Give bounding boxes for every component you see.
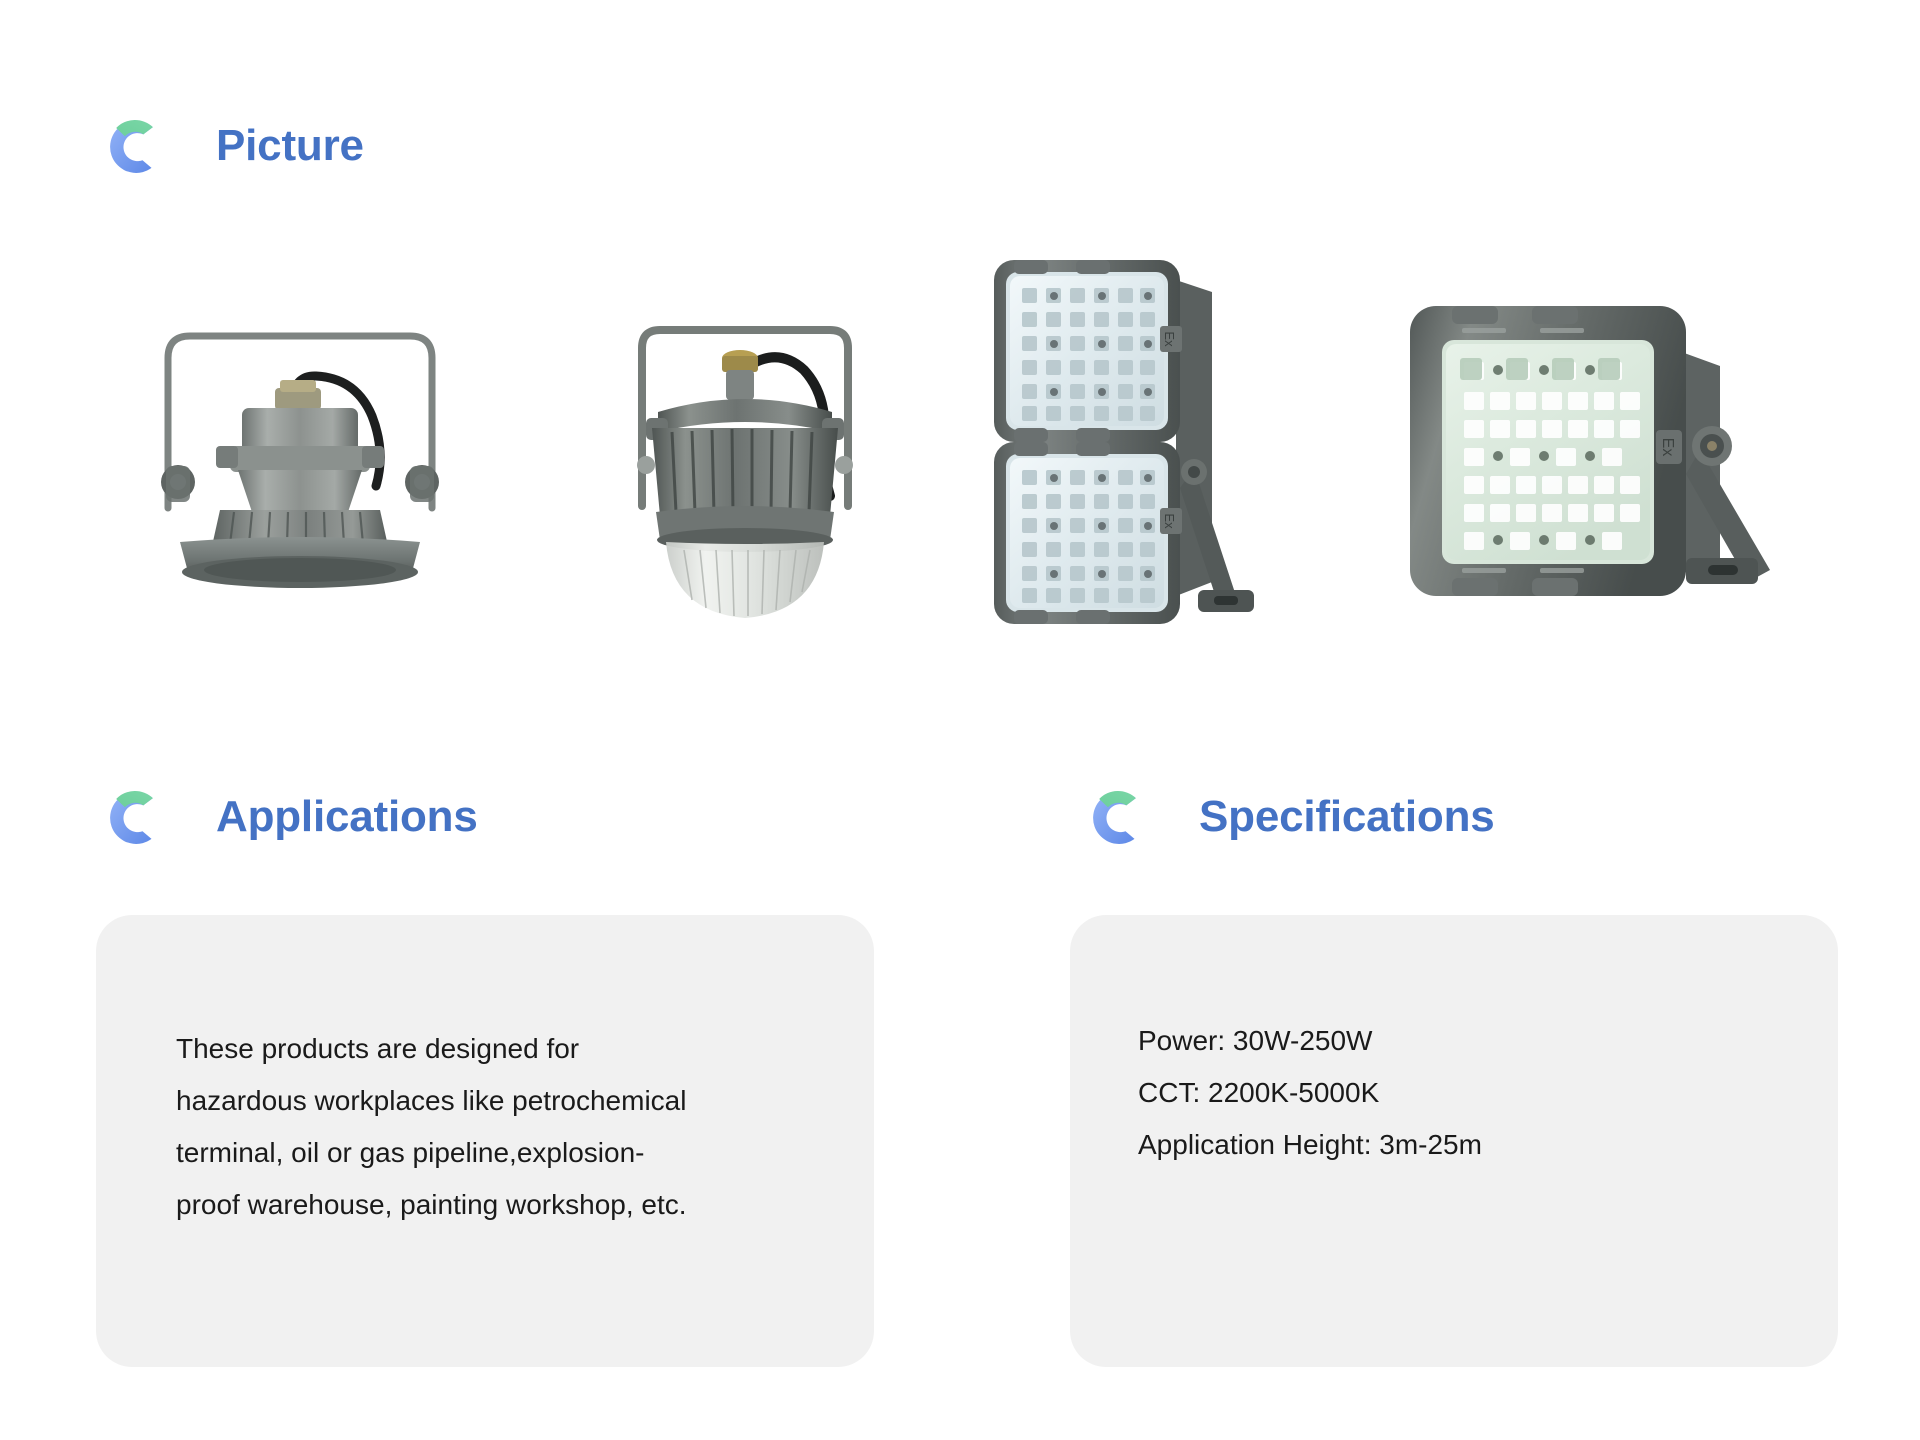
section-title-specifications: Specifications bbox=[1199, 792, 1495, 842]
c-ring-icon bbox=[1083, 783, 1151, 851]
c-ring-icon bbox=[100, 112, 168, 180]
section-header-picture: Picture bbox=[100, 112, 364, 180]
product-image-row: Ex bbox=[100, 255, 1840, 705]
product-image-round-explosion-proof-light-glass-dome bbox=[580, 300, 910, 620]
applications-line: These products are designed for bbox=[176, 1023, 816, 1075]
svg-text:Ex: Ex bbox=[1162, 513, 1177, 529]
product-info-page: Picture bbox=[0, 0, 1920, 1440]
applications-line: proof warehouse, painting workshop, etc. bbox=[176, 1179, 816, 1231]
specification-application-height: Application Height: 3m-25m bbox=[1138, 1119, 1778, 1171]
section-title-picture: Picture bbox=[216, 121, 364, 171]
applications-card: These products are designed for hazardou… bbox=[96, 915, 874, 1367]
product-image-single-module-led-flood-light: Ex bbox=[1400, 280, 1800, 630]
specification-power: Power: 30W-250W bbox=[1138, 1015, 1778, 1067]
svg-text:Ex: Ex bbox=[1162, 331, 1177, 347]
svg-text:Ex: Ex bbox=[1659, 438, 1676, 457]
specifications-card: Power: 30W-250W CCT: 2200K-5000K Applica… bbox=[1070, 915, 1838, 1367]
specification-cct: CCT: 2200K-5000K bbox=[1138, 1067, 1778, 1119]
c-ring-icon bbox=[100, 783, 168, 851]
section-header-applications: Applications bbox=[100, 783, 478, 851]
product-image-ufo-high-bay-explosion-proof-light bbox=[120, 270, 480, 600]
applications-line: hazardous workplaces like petrochemical bbox=[176, 1075, 816, 1127]
specifications-text-block: Power: 30W-250W CCT: 2200K-5000K Applica… bbox=[1138, 1015, 1778, 1171]
applications-text-block: These products are designed for hazardou… bbox=[176, 1023, 816, 1231]
section-header-specifications: Specifications bbox=[1083, 783, 1495, 851]
product-image-dual-module-led-flood-light: Ex bbox=[980, 230, 1280, 650]
applications-line: terminal, oil or gas pipeline,explosion- bbox=[176, 1127, 816, 1179]
section-title-applications: Applications bbox=[216, 792, 478, 842]
